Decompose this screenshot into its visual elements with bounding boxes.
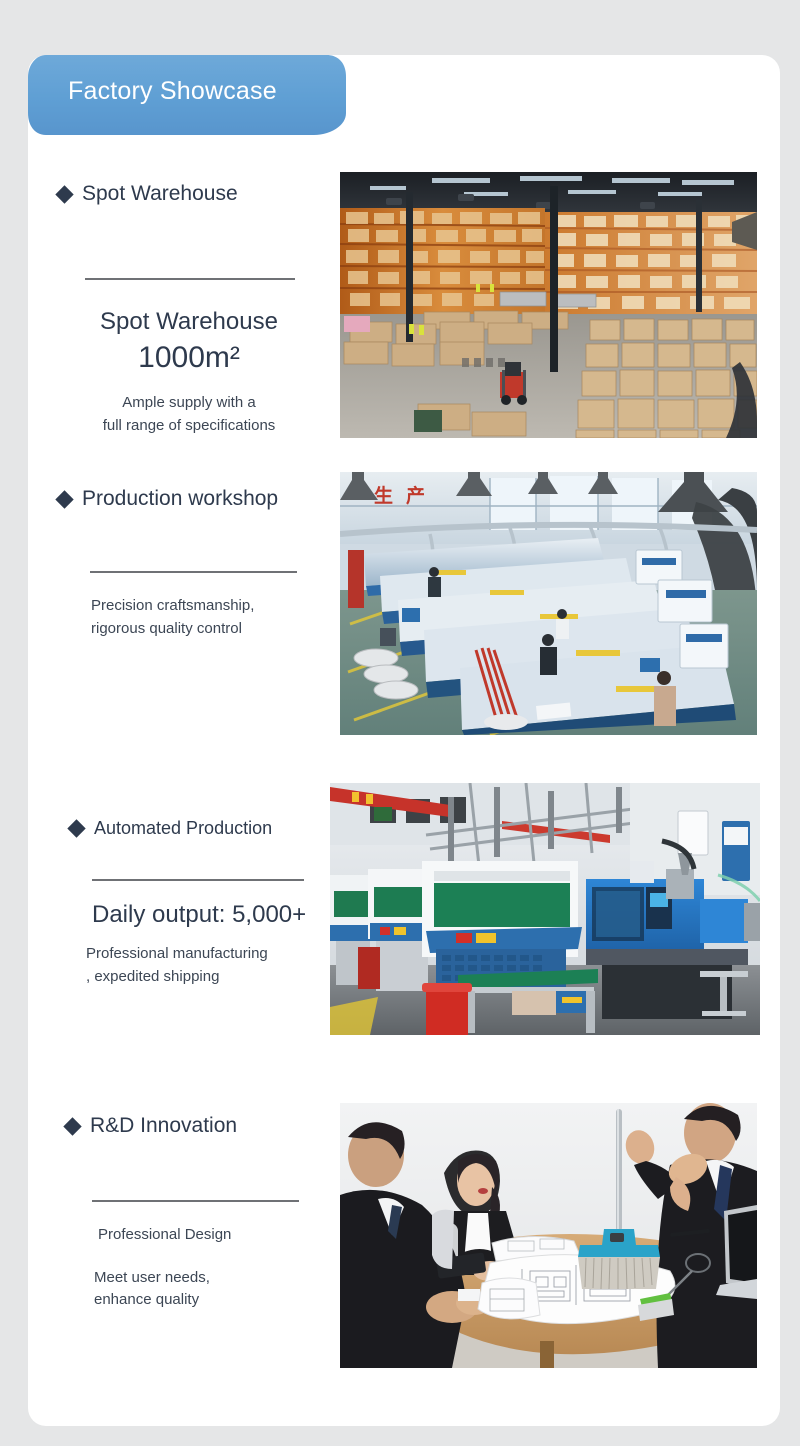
section-3-image (330, 783, 760, 1035)
section-3-description-line-1: Professional manufacturing (86, 943, 325, 966)
section-4-divider (92, 1200, 299, 1202)
diamond-icon (67, 819, 85, 837)
section-4-image (340, 1103, 757, 1368)
section-1-highlight-value: 1000m² (58, 341, 320, 375)
section-1-description-line-1: Ample supply with a (58, 392, 320, 415)
section-4-description-line-3: enhance quality (94, 1289, 326, 1312)
diamond-icon (63, 1117, 81, 1135)
svg-text:产: 产 (406, 484, 425, 507)
section-2-description-line-1: Precision craftsmanship, (91, 595, 320, 618)
section-2-heading-row: Production workshop (58, 487, 320, 511)
section-1-image (340, 172, 757, 438)
section-3-heading: Automated Production (94, 818, 272, 839)
section-1-heading-row: Spot Warehouse (58, 182, 320, 206)
page-title: Factory Showcase (68, 77, 277, 106)
section-1-description-line-2: full range of specifications (58, 415, 320, 438)
section-3-highlight-value: Daily output: 5,000+ (92, 901, 325, 929)
automated-production-photo (330, 783, 760, 1035)
workshop-photo: 生产 (340, 472, 757, 735)
section-3-text: Automated Production Daily output: 5,000… (70, 818, 325, 988)
factory-showcase-page: Factory Showcase Spot Warehouse Spot War… (0, 0, 800, 1446)
header-tab: Factory Showcase (28, 55, 388, 135)
section-1-highlight-title: Spot Warehouse (58, 308, 320, 336)
section-1-divider (85, 278, 295, 280)
section-2-image: 生产 (340, 472, 757, 735)
section-2-divider (90, 571, 297, 573)
section-3-heading-row: Automated Production (70, 818, 325, 839)
section-4-heading-row: R&D Innovation (66, 1114, 326, 1138)
warehouse-photo (340, 172, 757, 438)
section-3-divider (92, 879, 304, 881)
section-4-text: R&D Innovation Professional Design Meet … (66, 1114, 326, 1312)
svg-text:生: 生 (374, 484, 393, 507)
section-4-heading: R&D Innovation (90, 1114, 237, 1138)
section-2-text: Production workshop Precision craftsmans… (58, 487, 320, 640)
section-3-description-line-2: , expedited shipping (86, 966, 325, 989)
rd-meeting-photo (340, 1103, 757, 1368)
section-4-description-line-1: Professional Design (98, 1224, 326, 1247)
diamond-icon (55, 490, 73, 508)
diamond-icon (55, 185, 73, 203)
section-1-heading: Spot Warehouse (82, 182, 238, 206)
section-1-text: Spot Warehouse Spot Warehouse 1000m² Amp… (58, 182, 320, 437)
section-4-description-line-2: Meet user needs, (94, 1267, 326, 1290)
section-2-description-line-2: rigorous quality control (91, 618, 320, 641)
section-2-heading: Production workshop (82, 487, 278, 511)
